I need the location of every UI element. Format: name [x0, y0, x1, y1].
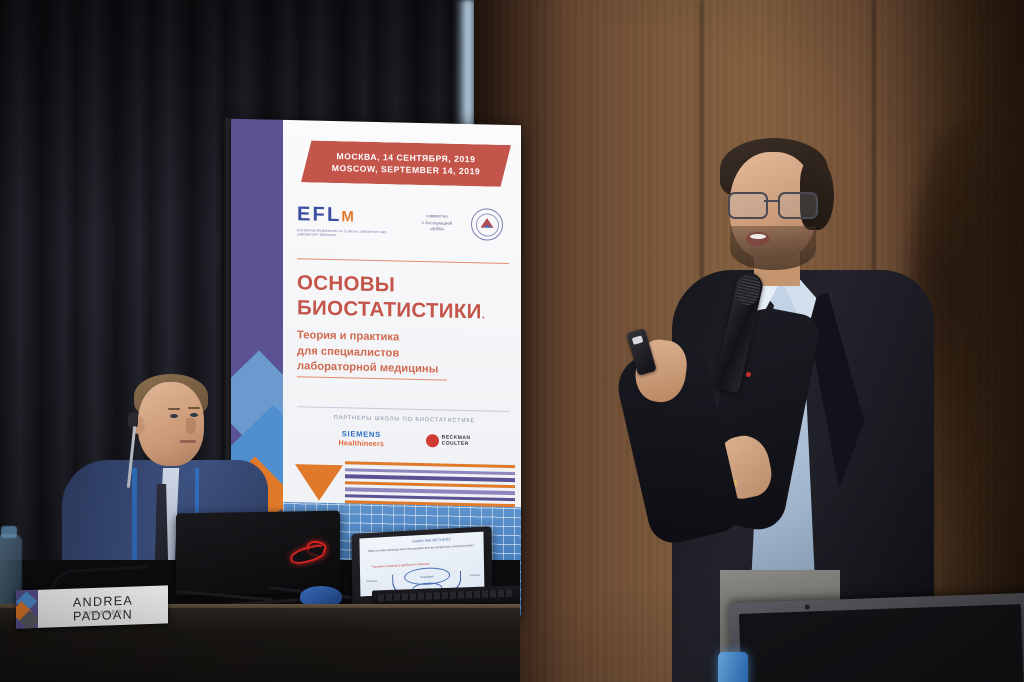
healthineers-wordmark: Healthineers: [339, 438, 385, 448]
banner-partner-logos: SIEMENS Healthineers BECKMAN COULTER: [297, 428, 512, 451]
banner-title-line-2: БИОСТАТИСТИКИ.: [297, 295, 512, 329]
glasses-lens-right: [778, 192, 818, 219]
speaker-beard: [730, 226, 816, 270]
banner-stripe: [345, 474, 515, 481]
seated-eye: [170, 414, 178, 418]
banner-title: ОСНОВЫ БИОСТАТИСТИКИ.: [297, 270, 512, 329]
banner-divider-top: [297, 258, 509, 264]
slide-bullet: Allows to make inferences about the popu…: [368, 544, 476, 554]
banner-stripe: [345, 468, 515, 475]
glasses-bridge: [764, 200, 778, 202]
placard-color-band: [16, 590, 38, 629]
monitor-screen: [739, 604, 1024, 682]
seated-eye: [190, 413, 198, 417]
slide-label-sampling: Sampling: [366, 580, 376, 584]
siemens-healthineers-logo: SIEMENS Healthineers: [339, 429, 385, 448]
banner-subtitle: Теория и практика для специалистов лабор…: [297, 328, 502, 379]
seated-mouth: [180, 440, 196, 443]
cable: [176, 590, 272, 601]
banner-stripe: [345, 488, 515, 495]
asus-rog-laptop[interactable]: [176, 511, 340, 596]
banner-orange-triangle: [295, 464, 343, 501]
glasses-lens-left: [728, 192, 768, 219]
association-seal-icon: [471, 208, 503, 241]
beckman-coulter-logo: BECKMAN COULTER: [426, 434, 471, 448]
banner-partners-label: ПАРТНЕРЫ ШКОЛЫ ПО БИОСТАТИСТИКЕ: [297, 414, 512, 425]
banner-logo-row: EFLM EUROPEAN FEDERATION OF CLINICAL CHE…: [297, 198, 512, 247]
slide-highlight: Population sampling is significant for i…: [372, 560, 464, 569]
rog-logo-icon: [290, 541, 324, 564]
banner-divider-bottom: [297, 406, 509, 412]
eflm-logo: EFLM EUROPEAN FEDERATION OF CLINICAL CHE…: [297, 204, 389, 238]
banner-date-header: МОСКВА, 14 СЕНТЯБРЯ, 2019 MOSCOW, SEPTEM…: [301, 140, 511, 187]
speaker-mouth: [746, 232, 770, 246]
seated-nose: [186, 418, 196, 434]
eyeglasses-icon: [728, 192, 822, 216]
monitor-webcam-icon: [805, 604, 810, 609]
banner-stripe: [345, 481, 515, 488]
banner-stripe: [345, 461, 515, 468]
association-text: совместно с Ассоциацией «ФЛМ»: [411, 213, 463, 234]
banner-date-en: MOSCOW, SEPTEMBER 14, 2019: [332, 162, 481, 177]
water-bottle-right: [718, 652, 748, 682]
slide-label-inference: Inference: [470, 574, 480, 578]
beckman-wordmark: BECKMAN COULTER: [442, 434, 471, 447]
speaker-name-placard: ANDREA PADOAN SPEAKER: [16, 585, 168, 628]
eflm-wordmark: EFLM: [297, 204, 389, 228]
beckman-mark-icon: [426, 434, 439, 447]
conference-photo-scene: МОСКВА, 14 СЕНТЯБРЯ, 2019 MOSCOW, SEPTEM…: [0, 0, 1024, 682]
association-line-3: «ФЛМ»: [411, 226, 463, 234]
foreground-monitor[interactable]: [729, 593, 1024, 682]
banner-stripe: [345, 494, 515, 501]
eflm-tagline: EUROPEAN FEDERATION OF CLINICAL CHEMISTR…: [297, 228, 389, 238]
